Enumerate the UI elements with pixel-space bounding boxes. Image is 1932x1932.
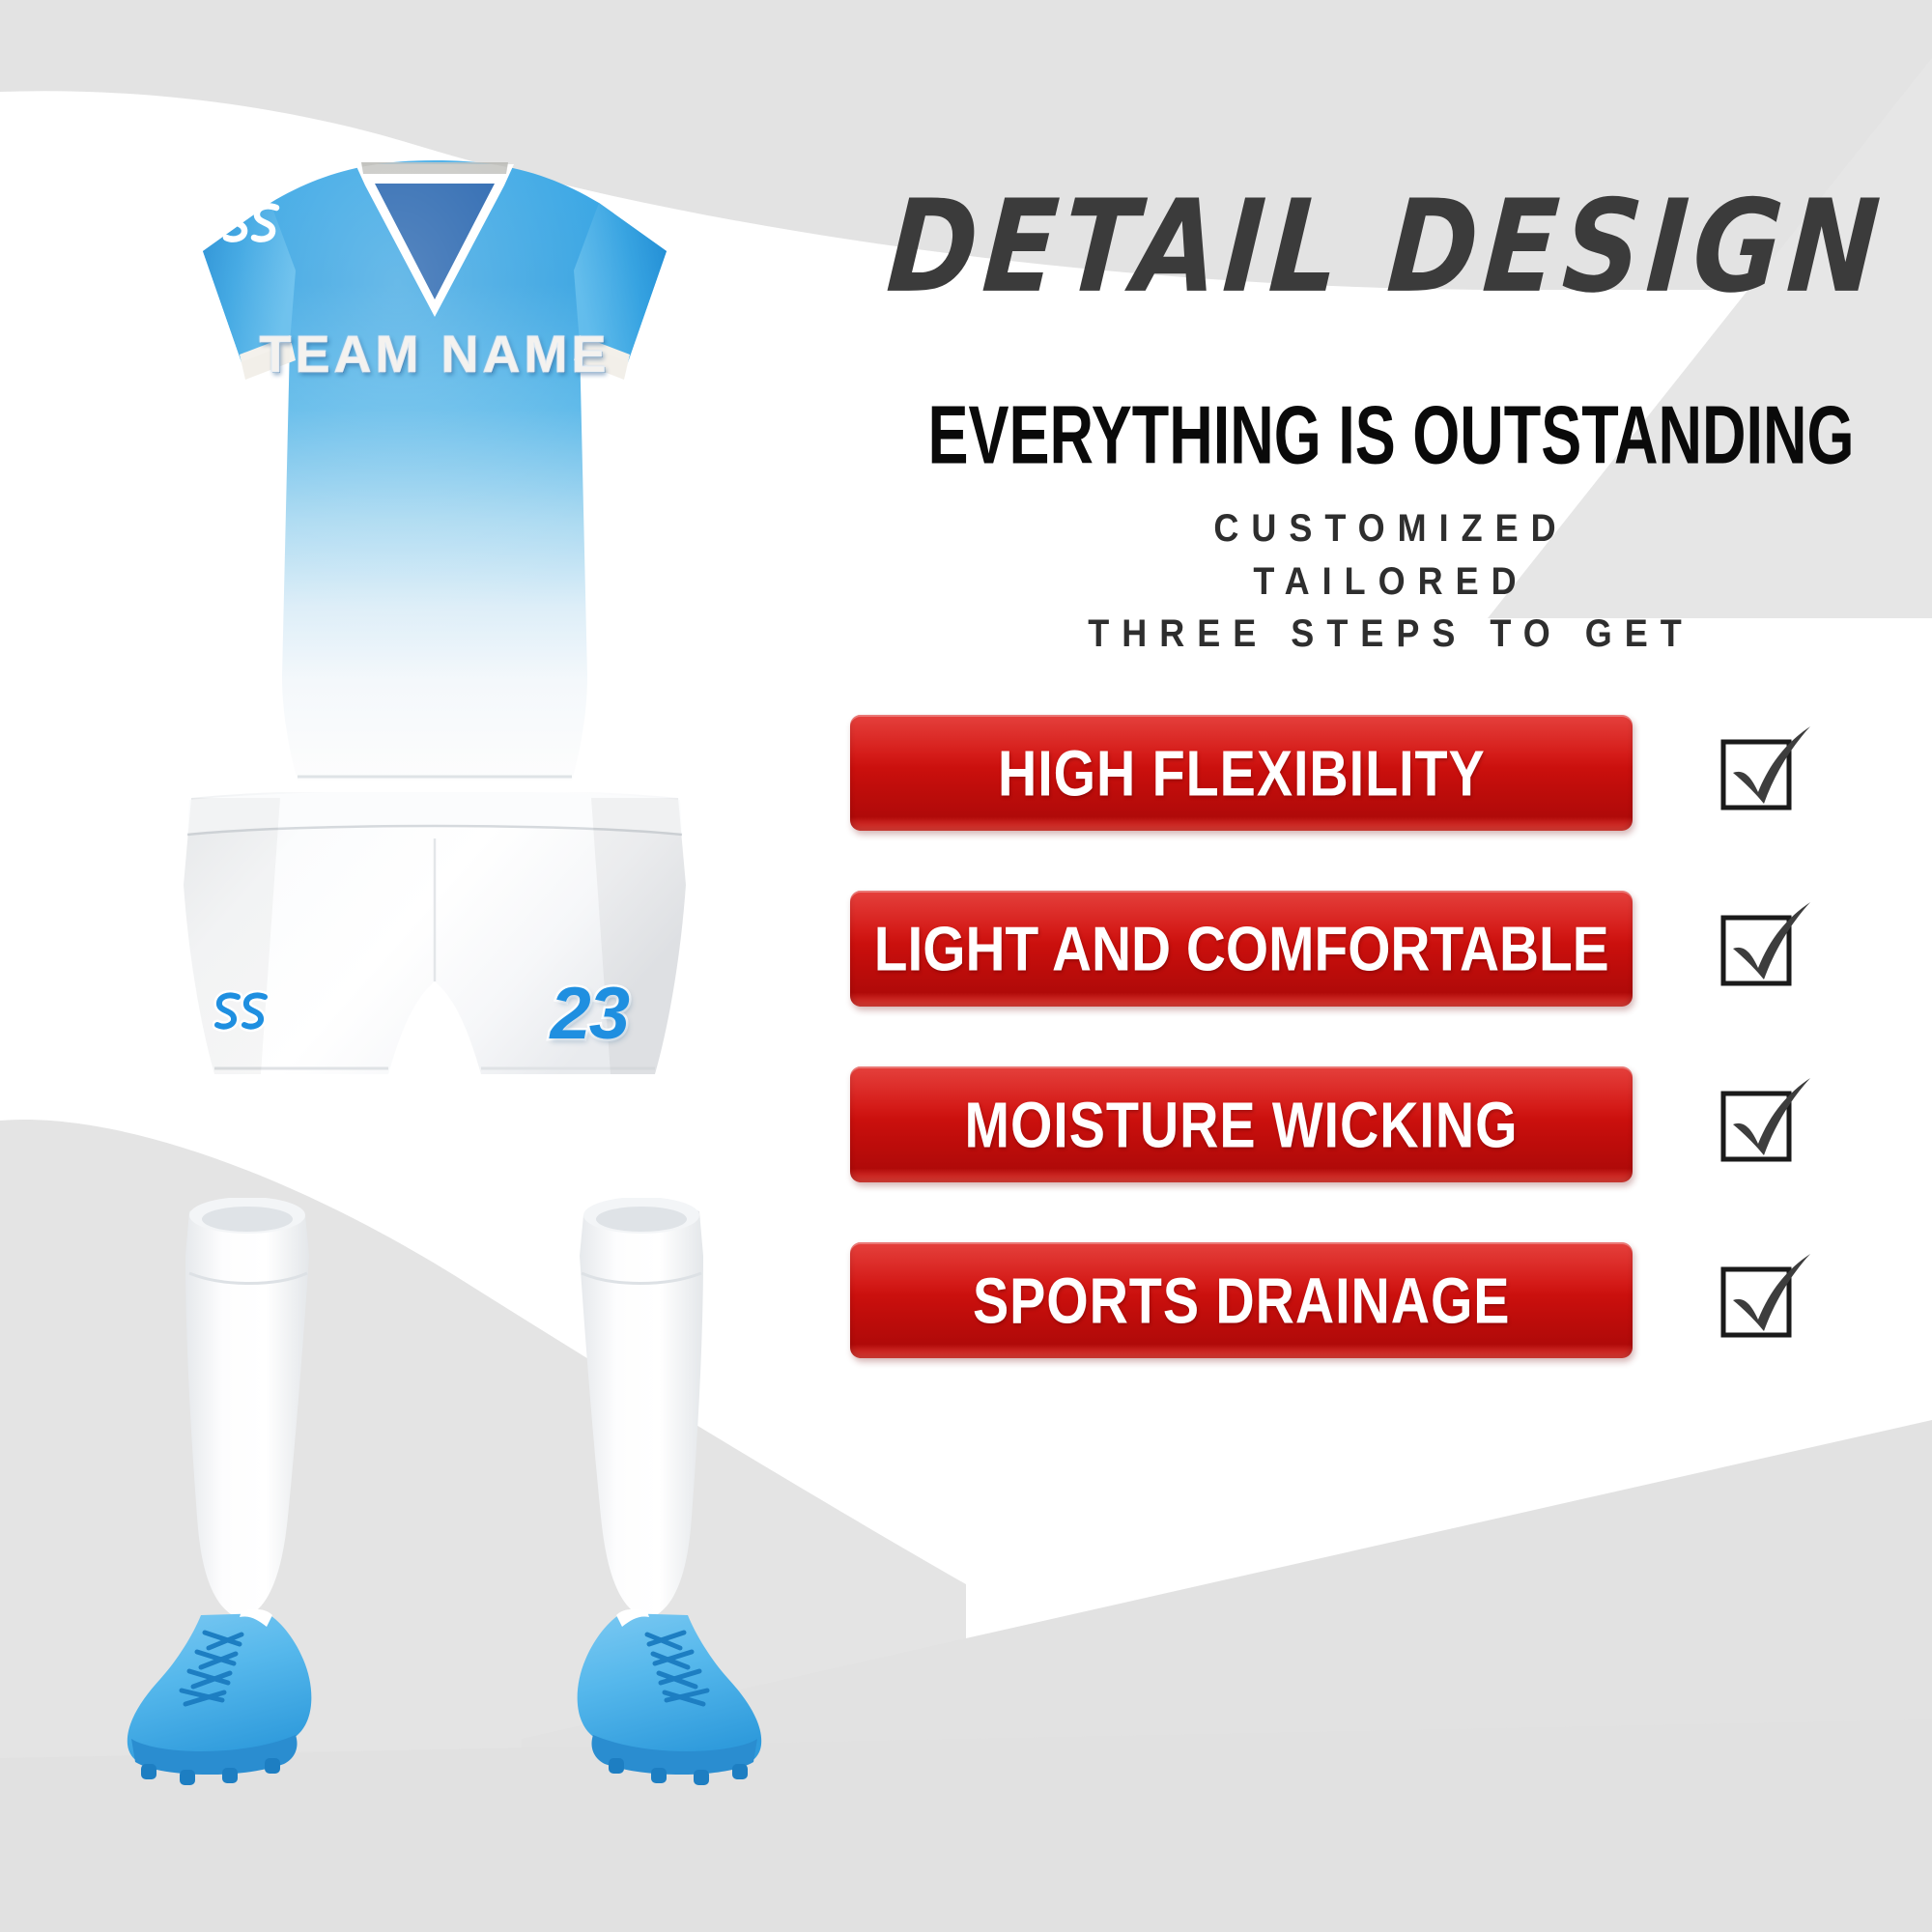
tagline-item: THREE STEPS TO GET <box>850 606 1932 664</box>
shorts-player-number: 23 <box>550 972 628 1056</box>
feature-banner[interactable]: MOISTURE WICKING <box>850 1066 1633 1182</box>
shorts-ss-monogram-icon <box>213 985 280 1045</box>
feature-list: HIGH FLEXIBILITY LIGHT AND COMFORTABLE M… <box>850 715 1932 1418</box>
sock-left <box>185 1200 309 1619</box>
jersey-team-name: TEAM NAME <box>126 325 744 384</box>
checkbox-checked-icon[interactable] <box>1710 1248 1816 1354</box>
info-panel: DETAIL DESIGN EVERYTHING IS OUTSTANDING … <box>850 0 1932 1932</box>
feature-row: MOISTURE WICKING <box>850 1066 1932 1182</box>
sock-left-opening-inner <box>202 1207 293 1232</box>
feature-banner[interactable]: HIGH FLEXIBILITY <box>850 715 1633 831</box>
product-showcase: TEAM NAME <box>0 0 869 1932</box>
feature-label: LIGHT AND COMFORTABLE <box>874 912 1609 984</box>
feature-banner[interactable]: SPORTS DRAINAGE <box>850 1242 1633 1358</box>
feature-label: MOISTURE WICKING <box>965 1087 1519 1161</box>
tagline-list: CUSTOMIZED TAILORED THREE STEPS TO GET <box>850 502 1932 661</box>
jersey-graphic: TEAM NAME <box>126 135 744 850</box>
feature-row: HIGH FLEXIBILITY <box>850 715 1932 831</box>
socks-and-cleats-graphic <box>97 1198 792 1874</box>
tagline-item: CUSTOMIZED <box>850 499 1932 557</box>
sock-right-opening-inner <box>596 1207 687 1232</box>
feature-banner[interactable]: LIGHT AND COMFORTABLE <box>850 891 1633 1007</box>
checkbox-checked-icon[interactable] <box>1710 721 1816 827</box>
checkbox-checked-icon[interactable] <box>1710 1072 1816 1179</box>
feature-label: HIGH FLEXIBILITY <box>998 735 1486 810</box>
cleat-left <box>128 1609 312 1785</box>
sock-right <box>580 1200 703 1619</box>
tagline-item: TAILORED <box>850 553 1932 611</box>
checkbox-checked-icon[interactable] <box>1710 896 1816 1003</box>
ss-monogram-icon <box>222 195 292 259</box>
feature-label: SPORTS DRAINAGE <box>973 1263 1511 1337</box>
cleat-right <box>578 1609 762 1785</box>
feature-row: LIGHT AND COMFORTABLE <box>850 891 1932 1007</box>
feature-row: SPORTS DRAINAGE <box>850 1242 1932 1358</box>
page-title: DETAIL DESIGN <box>855 184 1917 311</box>
shorts-graphic: 23 <box>145 792 724 1207</box>
page-subtitle: EVERYTHING IS OUTSTANDING <box>904 387 1878 482</box>
